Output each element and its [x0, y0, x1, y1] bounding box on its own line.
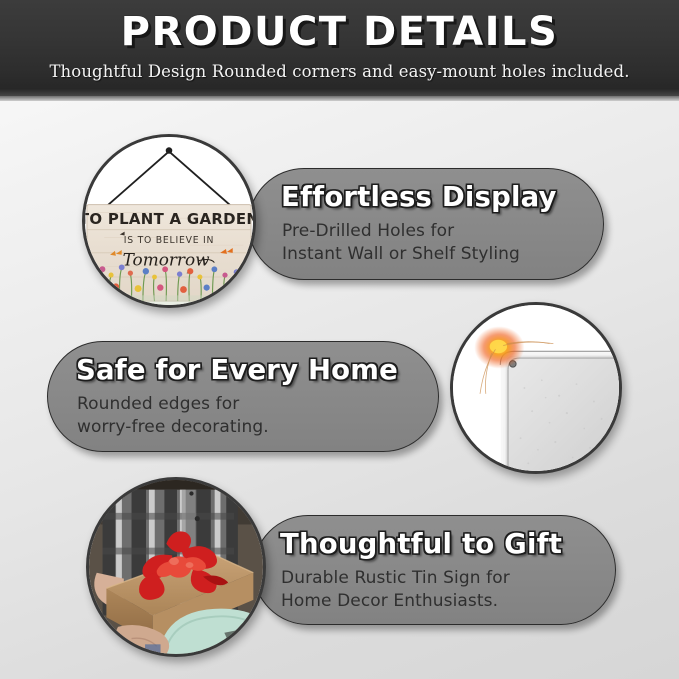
- feature-pill-content: Effortless Display Pre-Drilled Holes for…: [249, 169, 603, 279]
- feature-pill-content: Thoughtful to Gift Durable Rustic Tin Si…: [254, 516, 615, 624]
- feature-pill-safe-for-every-home: Safe for Every Home Rounded edges for wo…: [47, 341, 439, 452]
- feature-image-gift-box-handoff: [86, 477, 266, 657]
- sign-line-3: Tomorrow: [123, 249, 211, 269]
- feature-image-rounded-corner-closeup: [450, 302, 622, 474]
- feature-body: Durable Rustic Tin Sign for Home Decor E…: [281, 567, 510, 613]
- page-title: PRODUCT DETAILS: [0, 12, 679, 52]
- sign-line-1: TO PLANT A GARDEN: [85, 210, 253, 228]
- feature-body: Rounded edges for worry-free decorating.: [77, 393, 269, 439]
- feature-title: Thoughtful to Gift: [280, 528, 562, 560]
- gift-box-illustration: [89, 480, 263, 654]
- feature-pill-effortless-display: Effortless Display Pre-Drilled Holes for…: [248, 168, 604, 280]
- feature-image-hanging-garden-sign: TO PLANT A GARDEN IS TO BELIEVE IN Tomor…: [82, 134, 256, 308]
- hanging-garden-sign-illustration: TO PLANT A GARDEN IS TO BELIEVE IN Tomor…: [85, 137, 253, 305]
- feature-title: Effortless Display: [281, 181, 557, 213]
- product-details-infographic: PRODUCT DETAILS Thoughtful Design Rounde…: [0, 0, 679, 679]
- feature-body: Pre-Drilled Holes for Instant Wall or Sh…: [282, 220, 520, 266]
- header-subtitle: Thoughtful Design Rounded corners and ea…: [0, 62, 679, 81]
- rounded-corner-illustration: [453, 305, 619, 471]
- feature-pill-thoughtful-to-gift: Thoughtful to Gift Durable Rustic Tin Si…: [253, 515, 616, 625]
- sign-line-2: IS TO BELIEVE IN: [124, 235, 214, 246]
- feature-pill-content: Safe for Every Home Rounded edges for wo…: [48, 342, 438, 451]
- header-banner: PRODUCT DETAILS Thoughtful Design Rounde…: [0, 0, 679, 101]
- feature-title: Safe for Every Home: [76, 354, 398, 386]
